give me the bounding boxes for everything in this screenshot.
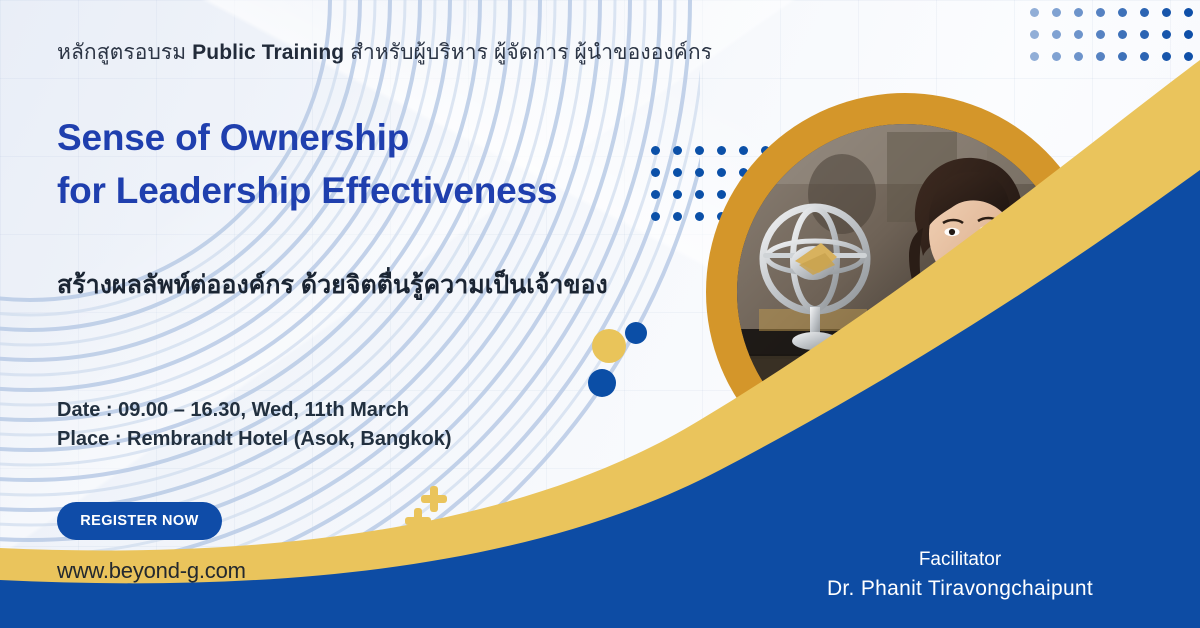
kicker-strong: Public Training — [192, 41, 344, 64]
page-title: Sense of Ownership for Leadership Effect… — [57, 112, 557, 217]
kicker-text: หลักสูตรอบรม Public Training สำหรับผู้บร… — [57, 36, 712, 69]
event-date: Date : 09.00 – 16.30, Wed, 11th March — [57, 396, 452, 425]
facilitator-role-label: Facilitator — [760, 546, 1160, 574]
title-line-1: Sense of Ownership — [57, 112, 557, 165]
title-line-2: for Leadership Effectiveness — [57, 165, 557, 218]
register-now-button[interactable]: REGISTER NOW — [57, 502, 222, 540]
kicker-prefix: หลักสูตรอบรม — [57, 41, 192, 64]
event-place: Place : Rembrandt Hotel (Asok, Bangkok) — [57, 425, 452, 454]
page-subtitle: สร้างผลลัพท์ต่อองค์กร ด้วยจิตตื่นรู้ความ… — [57, 265, 608, 305]
kicker-suffix: สำหรับผู้บริหาร ผู้จัดการ ผู้นำขององค์กร — [344, 41, 712, 64]
training-course-banner: หลักสูตรอบรม Public Training สำหรับผู้บร… — [0, 0, 1200, 628]
facilitator-block: Facilitator Dr. Phanit Tiravongchaipunt — [760, 546, 1160, 604]
facilitator-name: Dr. Phanit Tiravongchaipunt — [760, 574, 1160, 604]
event-details: Date : 09.00 – 16.30, Wed, 11th March Pl… — [57, 396, 452, 454]
website-url[interactable]: www.beyond-g.com — [57, 558, 246, 584]
